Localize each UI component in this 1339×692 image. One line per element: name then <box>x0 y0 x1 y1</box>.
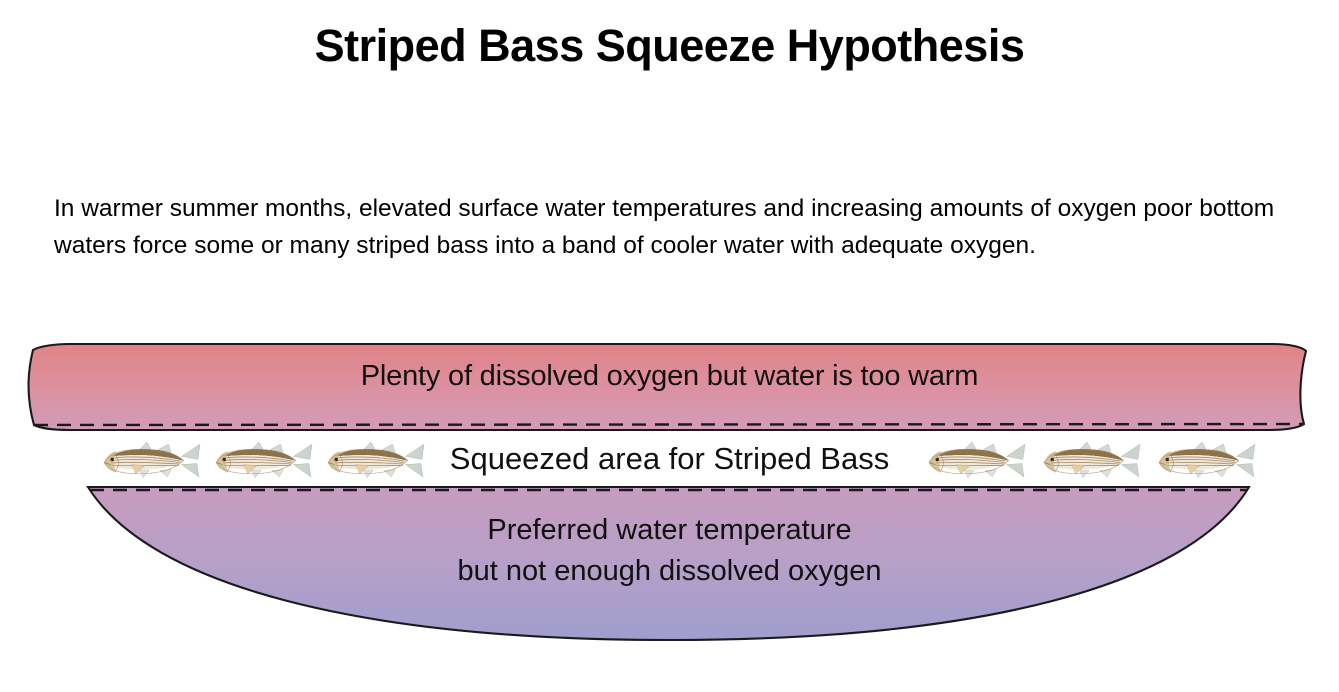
striped-bass-icon <box>929 442 1025 478</box>
striped-bass-icon <box>216 442 312 478</box>
intro-paragraph: In warmer summer months, elevated surfac… <box>54 190 1290 264</box>
striped-bass-squeeze-diagram: Plenty of dissolved oxygen but water is … <box>0 338 1339 668</box>
page-title: Striped Bass Squeeze Hypothesis <box>0 22 1339 69</box>
striped-bass-icon <box>1159 442 1255 478</box>
striped-bass-icon <box>328 442 424 478</box>
striped-bass-icon <box>104 442 200 478</box>
striped-bass-icon <box>1044 442 1140 478</box>
bottom-layer-shape <box>88 487 1249 640</box>
slide-canvas: Striped Bass Squeeze Hypothesis In warme… <box>0 0 1339 692</box>
diagram-svg <box>0 338 1339 668</box>
warm-layer-shape <box>29 344 1306 430</box>
